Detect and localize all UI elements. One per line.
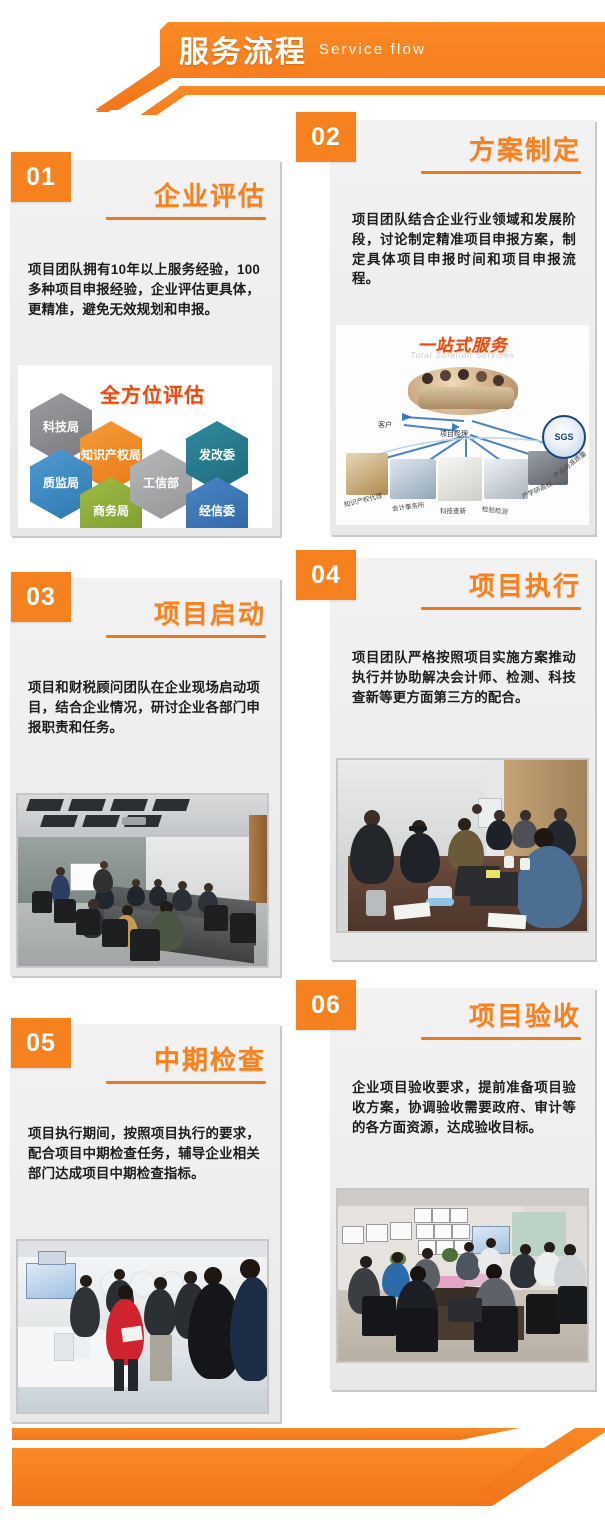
oss-tile-accounting (390, 459, 436, 499)
all-round-assessment-diagram: 全方位评估 科技局 知识产权局 质监局 商务局 工信部 发改委 (18, 365, 272, 528)
step-card-02[interactable]: 方案制定 项目团队结合企业行业领域和发展阶段，讨论制定精准项目申报方案，制定具体… (330, 120, 595, 535)
step-card-04[interactable]: 项目执行 项目团队严格按照项目实施方案推动执行并协助解决会计师、检测、科技查新等… (330, 558, 595, 960)
step-badge-01: 01 (11, 152, 71, 202)
step-title-05: 中期检查 (80, 1046, 266, 1075)
hex-node-jingxinwei: 经信委 (186, 477, 248, 528)
step-body-04: 项目团队严格按照项目实施方案推动执行并协助解决会计师、检测、科技查新等更方面第三… (352, 648, 576, 707)
title-underline-02 (421, 171, 581, 174)
step-body-06: 企业项目验收要求，提前准备项目验收方案，协调验收需要政府、审计等的各方面资源，达… (352, 1078, 576, 1137)
step-badge-06: 06 (296, 980, 356, 1030)
step-title-01: 企业评估 (80, 182, 266, 211)
step-card-06[interactable]: 项目验收 企业项目验收要求，提前准备项目验收方案，协调验收需要政府、审计等的各方… (330, 988, 595, 1390)
step-badge-02: 02 (296, 112, 356, 162)
step-title-04: 项目执行 (395, 572, 581, 601)
step-body-03: 项目和财税顾问团队在企业现场启动项目，结合企业情况，研讨企业各部门申报职责和任务… (28, 678, 260, 737)
kickoff-meeting-photo (16, 793, 269, 968)
header-banner-shape (0, 0, 605, 115)
footer-banner-shape (0, 1428, 605, 1538)
title-underline-04 (421, 607, 581, 610)
page-header: 服务流程 Service flow (0, 0, 605, 110)
step-badge-05: 05 (11, 1018, 71, 1068)
step-card-01[interactable]: 企业评估 项目团队拥有10年以上服务经验，100多种项目申报经验，企业评估更具体… (10, 160, 280, 536)
title-underline-01 (106, 217, 266, 220)
step-title-02: 方案制定 (395, 136, 581, 165)
acceptance-meeting-photo (336, 1188, 589, 1363)
title-underline-03 (106, 635, 266, 638)
step-title-06: 项目验收 (395, 1002, 581, 1031)
diagram-title-01: 全方位评估 (100, 379, 205, 408)
one-stop-service-diagram: 一站式服务 Total Solution Services 客户 项目经理 (336, 325, 589, 525)
step-title-03: 项目启动 (80, 600, 266, 629)
step-body-02: 项目团队结合企业行业领域和发展阶段，讨论制定精准项目申报方案，制定具体项目申报时… (352, 210, 576, 289)
step-badge-04: 04 (296, 550, 356, 600)
step-card-05[interactable]: 中期检查 项目执行期间，按照项目执行的要求，配合项目中期检查任务，辅导企业相关部… (10, 1024, 280, 1422)
step-body-01: 项目团队拥有10年以上服务经验，100多种项目申报经验，企业评估更具体，更精准，… (28, 260, 260, 319)
page-footer: 全国统一热线： 400-150-1560 (0, 1428, 605, 1538)
oss-node-label-2: 科技查新 (440, 505, 466, 515)
step-badge-03: 03 (11, 572, 71, 622)
midterm-inspection-photo (16, 1239, 269, 1414)
step-card-03[interactable]: 项目启动 项目和财税顾问团队在企业现场启动项目，结合企业情况，研讨企业各部门申报… (10, 578, 280, 976)
title-underline-05 (106, 1081, 266, 1084)
step-body-05: 项目执行期间，按照项目执行的要求，配合项目中期检查任务，辅导企业相关部门达成项目… (28, 1124, 260, 1183)
title-underline-06 (421, 1037, 581, 1040)
oss-tile-novelty (438, 457, 482, 501)
service-flow-poster: 服务流程 Service flow 企业评估 项目团队拥有10年以上服务经验，1… (0, 0, 605, 1538)
execution-worksession-photo (336, 758, 589, 933)
oss-tile-ip (346, 453, 388, 495)
